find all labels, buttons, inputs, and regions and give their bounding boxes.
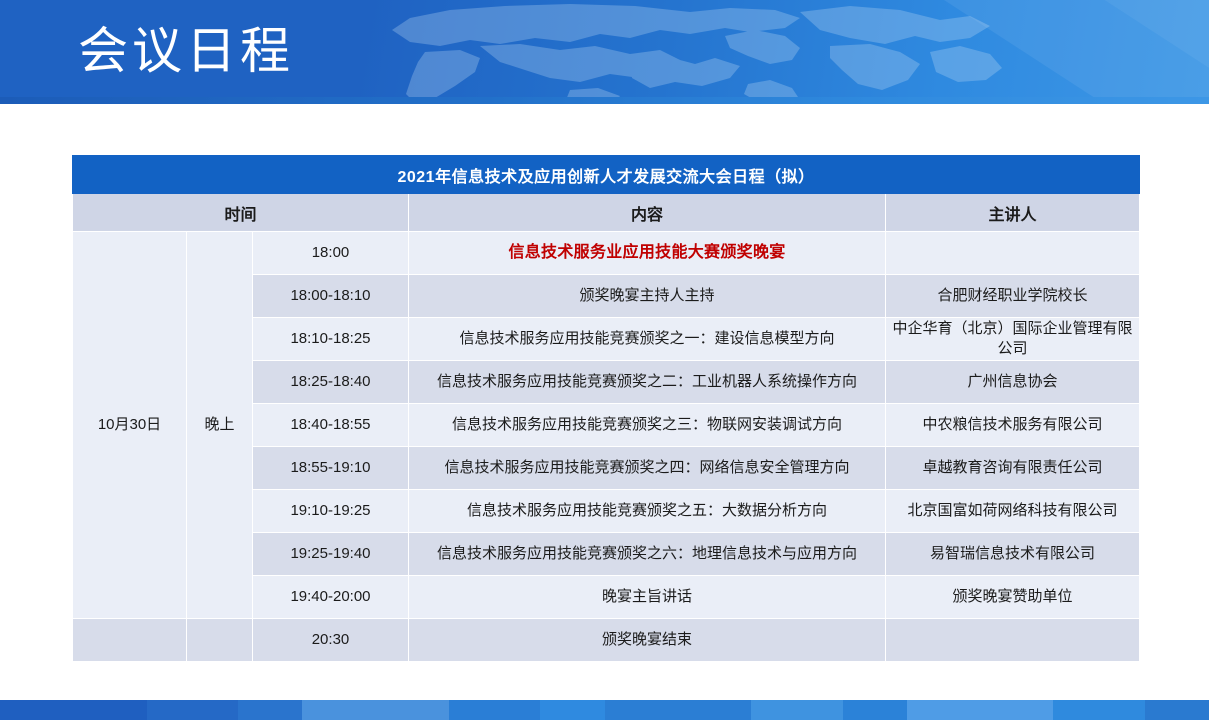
cell-time: 19:10-19:25: [253, 490, 409, 533]
footer-segment: [751, 700, 843, 720]
cell-speaker: 易智瑞信息技术有限公司: [886, 533, 1140, 576]
cell-time: 18:00: [253, 232, 409, 275]
page-header-banner: 会议日程: [0, 0, 1209, 104]
page-title: 会议日程: [78, 16, 294, 86]
cell-speaker: 颁奖晚宴赞助单位: [886, 576, 1140, 619]
cell-content: 信息技术服务应用技能竞赛颁奖之三：物联网安装调试方向: [409, 404, 886, 447]
cell-date: 10月30日: [73, 232, 187, 619]
cell-content: 颁奖晚宴主持人主持: [409, 275, 886, 318]
cell-period: 晚上: [187, 232, 253, 619]
cell-speaker: 中企华育（北京）国际企业管理有限公司: [886, 318, 1140, 361]
cell-speaker: [886, 619, 1140, 662]
footer-segment: [605, 700, 752, 720]
cell-speaker: 广州信息协会: [886, 361, 1140, 404]
cell-content: 信息技术服务应用技能竞赛颁奖之一：建设信息模型方向: [409, 318, 886, 361]
cell-content: 信息技术服务应用技能竞赛颁奖之四：网络信息安全管理方向: [409, 447, 886, 490]
cell-speaker: [886, 232, 1140, 275]
schedule-table-container: 2021年信息技术及应用创新人才发展交流大会日程（拟） 时间 内容 主讲人 10…: [72, 155, 1139, 662]
table-header-row: 时间 内容 主讲人: [73, 194, 1140, 232]
footer-segment: [907, 700, 1054, 720]
cell-period-empty: [187, 619, 253, 662]
cell-speaker: 中农粮信技术服务有限公司: [886, 404, 1140, 447]
table-row: 20:30颁奖晚宴结束: [73, 619, 1140, 662]
footer-segment: [1145, 700, 1209, 720]
cell-time: 19:40-20:00: [253, 576, 409, 619]
column-header-time: 时间: [73, 194, 409, 232]
footer-segment: [302, 700, 449, 720]
footer-segment: [540, 700, 604, 720]
cell-time: 18:00-18:10: [253, 275, 409, 318]
column-header-speaker: 主讲人: [886, 194, 1140, 232]
cell-content-highlight: 信息技术服务业应用技能大赛颁奖晚宴: [409, 232, 886, 275]
cell-content: 晚宴主旨讲话: [409, 576, 886, 619]
footer-segment: [0, 700, 147, 720]
footer-segment: [449, 700, 541, 720]
world-map-graphic: [330, 0, 1030, 104]
schedule-table: 2021年信息技术及应用创新人才发展交流大会日程（拟） 时间 内容 主讲人 10…: [72, 155, 1140, 662]
cell-time: 18:10-18:25: [253, 318, 409, 361]
cell-date-empty: [73, 619, 187, 662]
cell-content: 信息技术服务应用技能竞赛颁奖之六：地理信息技术与应用方向: [409, 533, 886, 576]
table-title-row: 2021年信息技术及应用创新人才发展交流大会日程（拟）: [73, 156, 1140, 194]
table-title: 2021年信息技术及应用创新人才发展交流大会日程（拟）: [73, 156, 1140, 194]
cell-time: 19:25-19:40: [253, 533, 409, 576]
footer-segment: [843, 700, 907, 720]
footer-segment: [238, 700, 302, 720]
footer-color-bar: [0, 700, 1209, 720]
cell-content: 颁奖晚宴结束: [409, 619, 886, 662]
cell-time: 18:55-19:10: [253, 447, 409, 490]
footer-segment: [1053, 700, 1145, 720]
banner-bottom-strip: [0, 97, 1209, 104]
cell-speaker: 卓越教育咨询有限责任公司: [886, 447, 1140, 490]
cell-time: 20:30: [253, 619, 409, 662]
column-header-content: 内容: [409, 194, 886, 232]
cell-time: 18:25-18:40: [253, 361, 409, 404]
cell-content: 信息技术服务应用技能竞赛颁奖之五：大数据分析方向: [409, 490, 886, 533]
table-row: 10月30日晚上18:00信息技术服务业应用技能大赛颁奖晚宴: [73, 232, 1140, 275]
footer-segment: [147, 700, 239, 720]
cell-content: 信息技术服务应用技能竞赛颁奖之二：工业机器人系统操作方向: [409, 361, 886, 404]
cell-time: 18:40-18:55: [253, 404, 409, 447]
cell-speaker: 合肥财经职业学院校长: [886, 275, 1140, 318]
cell-speaker: 北京国富如荷网络科技有限公司: [886, 490, 1140, 533]
